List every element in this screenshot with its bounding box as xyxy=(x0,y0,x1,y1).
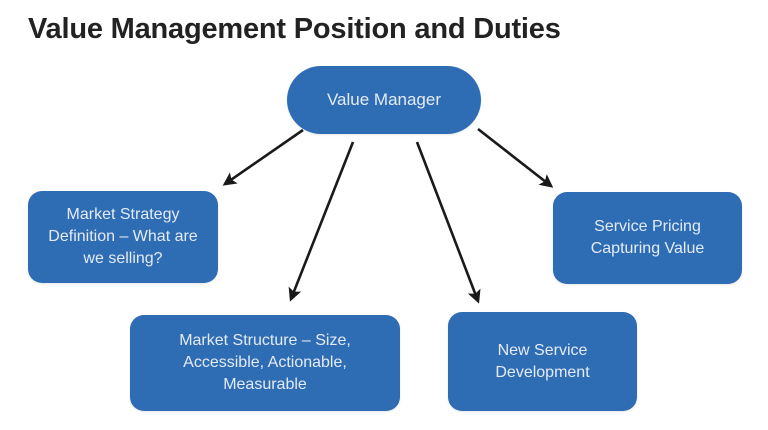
node-new-service-development[interactable]: New Service Development xyxy=(448,312,637,411)
arrow-to-market-structure xyxy=(291,142,353,299)
arrow-to-market-strategy xyxy=(225,130,303,184)
node-value-manager[interactable]: Value Manager xyxy=(287,66,481,134)
node-value-manager-label: Value Manager xyxy=(297,89,471,111)
page-title: Value Management Position and Duties xyxy=(28,12,561,46)
arrow-to-service-pricing xyxy=(478,129,551,186)
node-new-service-development-label: New Service Development xyxy=(458,340,627,384)
node-market-structure-label: Market Structure – Size, Accessible, Act… xyxy=(140,330,390,396)
arrow-to-new-service xyxy=(417,142,478,301)
node-market-structure[interactable]: Market Structure – Size, Accessible, Act… xyxy=(130,315,400,411)
diagram-canvas: Value Management Position and Duties Val… xyxy=(0,0,768,430)
node-service-pricing-label: Service Pricing Capturing Value xyxy=(563,216,732,260)
node-market-strategy-label: Market Strategy Definition – What are we… xyxy=(38,204,208,270)
node-service-pricing[interactable]: Service Pricing Capturing Value xyxy=(553,192,742,284)
node-market-strategy[interactable]: Market Strategy Definition – What are we… xyxy=(28,191,218,283)
